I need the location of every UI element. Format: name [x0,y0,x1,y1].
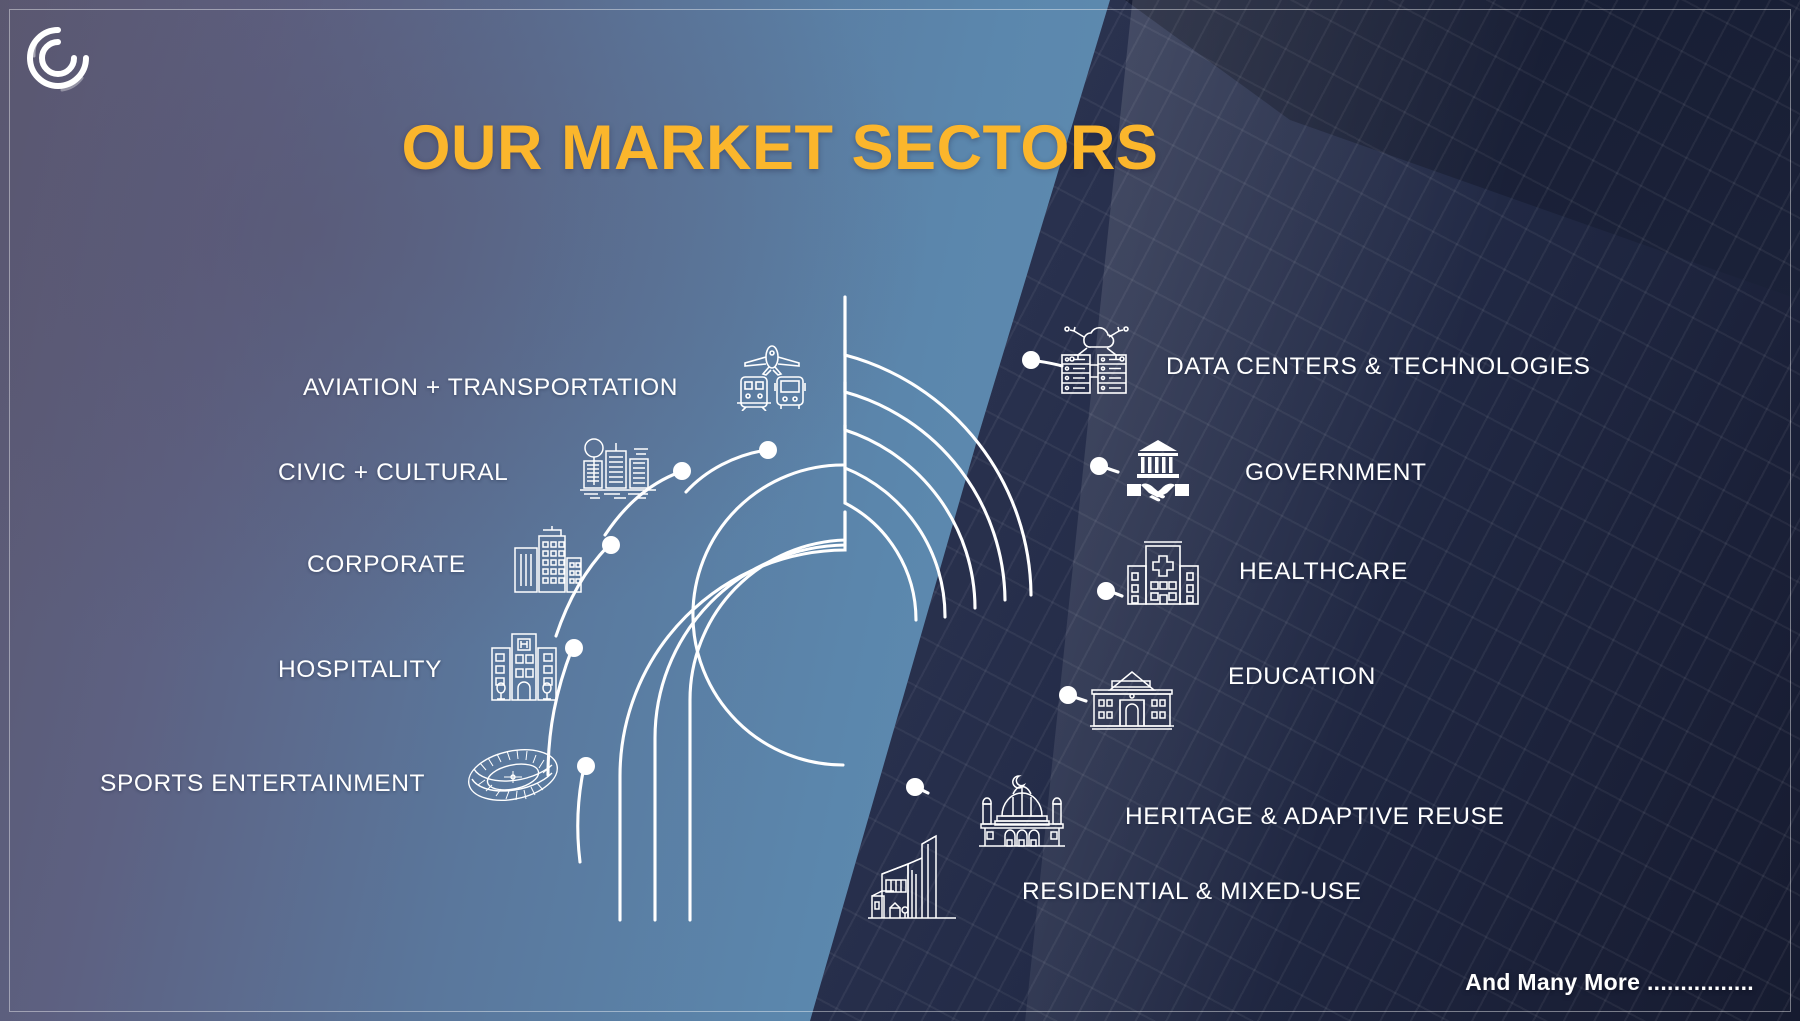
connector-dot [565,639,583,657]
airplane-train-bus-icon [733,341,811,411]
sector-label-residential: RESIDENTIAL & MIXED-USE [1022,878,1362,906]
office-buildings-icon [513,526,583,594]
sector-label-corporate: CORPORATE [307,551,466,579]
hospital-cross-icon [1126,540,1200,606]
connector-dot [1090,457,1108,475]
university-building-icon [1090,670,1174,732]
mixed-use-building-icon [868,830,956,922]
city-skyline-icon [580,435,656,500]
sector-label-aviation: AVIATION + TRANSPORTATION [303,374,678,402]
connector-dot [1097,582,1115,600]
sector-label-civic: CIVIC + CULTURAL [278,459,508,487]
connector-dot [602,536,620,554]
sector-label-heritage: HERITAGE & ADAPTIVE REUSE [1125,803,1504,831]
slide-canvas: OUR MARKET SECTORS [0,0,1800,1021]
sector-label-healthcare: HEALTHCARE [1239,558,1408,586]
hotel-building-icon [490,630,558,702]
connector-dot [577,757,595,775]
connector-dot [759,441,777,459]
sector-label-sports: SPORTS ENTERTAINMENT [100,770,425,798]
capitol-handshake-icon [1123,440,1193,502]
connector-dot [1022,351,1040,369]
sector-label-government: GOVERNMENT [1245,459,1427,487]
stadium-icon [466,745,560,809]
heritage-dome-icon [975,770,1069,848]
sector-label-data-centers: DATA CENTERS & TECHNOLOGIES [1166,353,1591,381]
connector-dot [1059,686,1077,704]
and-many-more-note: And Many More ................ [1465,969,1754,996]
sector-label-hospitality: HOSPITALITY [278,656,442,684]
connector-dot [673,462,691,480]
connector-dot [906,778,924,796]
sector-label-education: EDUCATION [1228,663,1376,691]
server-cloud-icon [1056,325,1130,397]
